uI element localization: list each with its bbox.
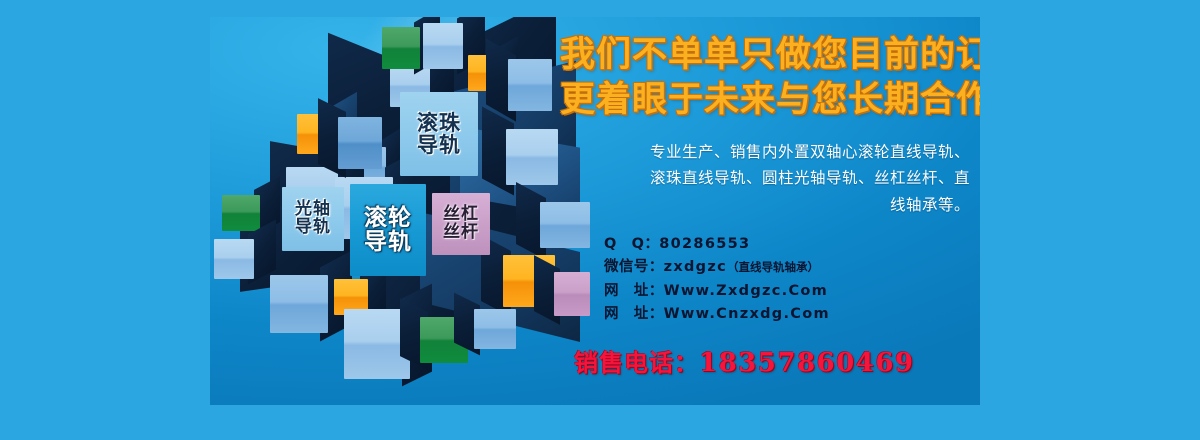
cube (214, 239, 254, 279)
sales-phone-number: 18357860469 (699, 348, 915, 378)
product-box-line1: 滚轮 (364, 206, 412, 230)
cube-face (474, 309, 516, 349)
contact-row-qq: Q Q：80286553 (604, 233, 970, 256)
banner-page: 滚珠 导轨 光轴 导轨 滚轮 导轨 丝杠 丝杆 我们不单单只做您目前的订单 更着… (0, 0, 1200, 440)
wechat-value: zxdgzc (664, 259, 727, 275)
cube (506, 129, 558, 185)
contact-row-website-1: 网 址：Www.Zxdgzc.Com (604, 280, 970, 303)
product-box-line1: 滚珠 (417, 112, 461, 134)
subcopy-line2: 滚珠直线导轨、圆柱光轴导轨、丝杠丝杆、直 (588, 165, 970, 192)
subcopy-line1: 专业生产、销售内外置双轴心滚轮直线导轨、 (588, 139, 970, 166)
contact-block: Q Q：80286553 微信号：zxdgzc（直线导轨轴承） 网 址：Www.… (560, 233, 970, 327)
headline-line1: 我们不单单只做您目前的订单 (560, 33, 970, 78)
subcopy-line3: 线轴承等。 (588, 192, 970, 219)
headline-line2: 更着眼于未来与您长期合作 (560, 78, 970, 123)
cube-face (423, 23, 463, 69)
cube (338, 117, 382, 169)
site1-value[interactable]: Www.Zxdgzc.Com (664, 283, 828, 299)
product-box-line2: 导轨 (295, 219, 331, 237)
product-box-gunlun-daogui[interactable]: 滚轮 导轨 (350, 184, 426, 276)
cube-face (382, 27, 420, 69)
cube-face (506, 129, 558, 185)
cube-green (222, 195, 260, 231)
qq-label: Q Q： (604, 233, 659, 256)
cube (423, 23, 463, 69)
sales-phone-label: 销售电话： (574, 349, 699, 377)
site2-value[interactable]: Www.Cnzxdg.Com (664, 306, 830, 322)
cube-green (382, 27, 420, 69)
product-box-sigang-sigan[interactable]: 丝杠 丝杆 (432, 193, 490, 255)
sales-phone-block: 销售电话：18357860469 (560, 343, 970, 378)
product-box-line2: 导轨 (417, 134, 461, 156)
site1-label: 网 址： (604, 280, 664, 303)
qq-value: 80286553 (659, 236, 750, 252)
wechat-note: （直线导轨轴承） (727, 260, 819, 274)
cube (508, 59, 552, 111)
cube (270, 275, 328, 333)
wechat-label: 微信号： (604, 256, 664, 279)
cube-cluster-graphic: 滚珠 导轨 光轴 导轨 滚轮 导轨 丝杠 丝杆 (210, 17, 590, 405)
cube-face (508, 59, 552, 111)
cube-face (338, 117, 382, 169)
subcopy-block: 专业生产、销售内外置双轴心滚轮直线导轨、 滚珠直线导轨、圆柱光轴导轨、丝杠丝杆、… (560, 139, 970, 219)
site2-label: 网 址： (604, 303, 664, 326)
cube-face (222, 195, 260, 231)
promo-banner: 滚珠 导轨 光轴 导轨 滚轮 导轨 丝杠 丝杆 我们不单单只做您目前的订单 更着… (210, 17, 980, 405)
product-box-guangzhou-daogui[interactable]: 光轴 导轨 (282, 187, 344, 251)
banner-text-column: 我们不单单只做您目前的订单 更着眼于未来与您长期合作 专业生产、销售内外置双轴心… (560, 33, 970, 393)
contact-row-website-2: 网 址：Www.Cnzxdg.Com (604, 303, 970, 326)
cube-face (214, 239, 254, 279)
cube (474, 309, 516, 349)
cube-face (270, 275, 328, 333)
product-box-line2: 丝杆 (443, 224, 479, 242)
product-box-gunzhu-daogui[interactable]: 滚珠 导轨 (400, 92, 478, 176)
contact-row-wechat: 微信号：zxdgzc（直线导轨轴承） (604, 256, 970, 279)
product-box-line2: 导轨 (364, 230, 412, 254)
